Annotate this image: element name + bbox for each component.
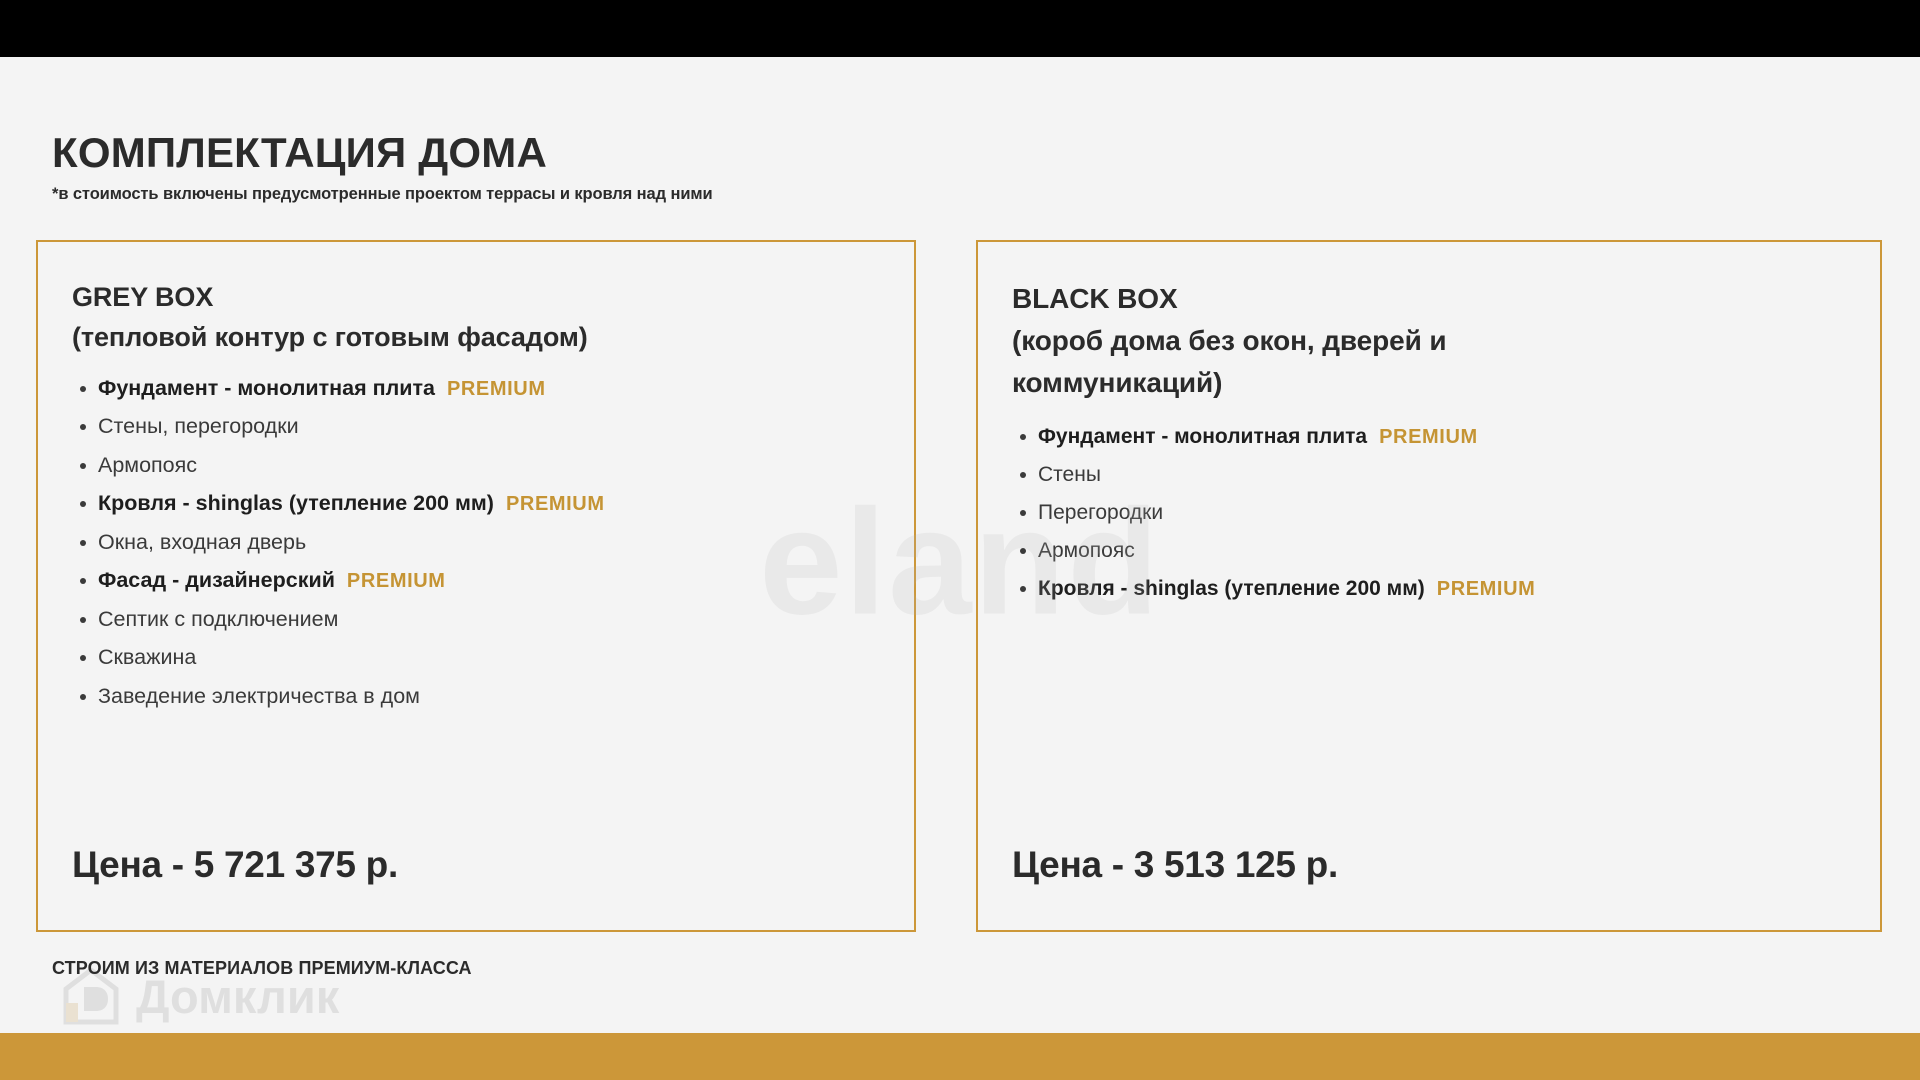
card-black-box-subtitle-line1: (короб дома без окон, дверей и xyxy=(1012,320,1846,362)
list-item: Окна, входная дверь xyxy=(72,532,880,554)
bottom-gold-bar xyxy=(0,1033,1920,1080)
card-grey-box-title: GREY BOX (тепловой контур с готовым фаса… xyxy=(72,278,880,358)
feature-text: Перегородки xyxy=(1038,501,1163,524)
footer-caption: СТРОИМ ИЗ МАТЕРИАЛОВ ПРЕМИУМ-КЛАССА xyxy=(52,958,472,979)
feature-text: Кровля - shinglas (утепление 200 мм) xyxy=(98,491,494,515)
list-item: Кровля - shinglas (утепление 200 мм)PREM… xyxy=(1012,578,1846,599)
page-title: КОМПЛЕКТАЦИЯ ДОМА xyxy=(52,131,1052,175)
card-black-box-subtitle-line2: коммуникаций) xyxy=(1012,362,1846,404)
package-cards-container: GREY BOX (тепловой контур с готовым фаса… xyxy=(36,240,1886,932)
card-black-box-name: BLACK BOX xyxy=(1012,283,1178,314)
list-item: Септик с подключением xyxy=(72,609,880,631)
premium-badge: PREMIUM xyxy=(1437,578,1536,600)
card-black-box-title: BLACK BOX (короб дома без окон, дверей и… xyxy=(1012,278,1846,404)
card-grey-box-name: GREY BOX xyxy=(72,282,213,312)
feature-text: Окна, входная дверь xyxy=(98,530,306,554)
feature-text: Стены xyxy=(1038,463,1101,486)
feature-text: Фасад - дизайнерский xyxy=(98,568,335,592)
feature-text: Фундамент - монолитная плита xyxy=(1038,425,1367,448)
list-item: Заведение электричества в дом xyxy=(72,686,880,708)
card-grey-box-feature-list: Фундамент - монолитная плитаPREMIUM Стен… xyxy=(72,378,880,725)
list-item: Стены xyxy=(1012,464,1846,485)
feature-text: Армопояс xyxy=(1038,539,1135,562)
card-black-box-feature-list: Фундамент - монолитная плитаPREMIUM Стен… xyxy=(1012,426,1846,616)
feature-text: Заведение электричества в дом xyxy=(98,684,420,708)
feature-text: Стены, перегородки xyxy=(98,414,299,438)
premium-badge: PREMIUM xyxy=(506,493,605,515)
list-item: Армопояс xyxy=(1012,540,1846,561)
feature-text: Кровля - shinglas (утепление 200 мм) xyxy=(1038,577,1425,600)
card-black-box-price: Цена - 3 513 125 р. xyxy=(1012,844,1846,886)
page-subtitle: *в стоимость включены предусмотренные пр… xyxy=(52,185,1052,204)
premium-badge: PREMIUM xyxy=(1379,426,1478,448)
feature-text: Армопояс xyxy=(98,453,197,477)
list-item: Скважина xyxy=(72,647,880,669)
card-black-box[interactable]: BLACK BOX (короб дома без окон, дверей и… xyxy=(976,240,1882,932)
card-grey-box-price: Цена - 5 721 375 р. xyxy=(72,844,880,886)
heading-block: КОМПЛЕКТАЦИЯ ДОМА *в стоимость включены … xyxy=(52,131,1052,204)
feature-text: Скважина xyxy=(98,645,196,669)
list-item: Армопояс xyxy=(72,455,880,477)
list-item: Фундамент - монолитная плитаPREMIUM xyxy=(1012,426,1846,447)
top-black-bar xyxy=(0,0,1920,57)
slide-root: eland КОМПЛЕКТАЦИЯ ДОМА *в стоимость вкл… xyxy=(0,0,1920,1080)
list-item: Перегородки xyxy=(1012,502,1846,523)
list-item: Стены, перегородки xyxy=(72,416,880,438)
feature-text: Фундамент - монолитная плита xyxy=(98,376,435,400)
list-item: Фундамент - монолитная плитаPREMIUM xyxy=(72,378,880,400)
card-grey-box-subtitle: (тепловой контур с готовым фасадом) xyxy=(72,318,880,358)
card-grey-box[interactable]: GREY BOX (тепловой контур с готовым фаса… xyxy=(36,240,916,932)
feature-text: Септик с подключением xyxy=(98,607,338,631)
list-item: Кровля - shinglas (утепление 200 мм)PREM… xyxy=(72,493,880,515)
premium-badge: PREMIUM xyxy=(447,378,546,400)
premium-badge: PREMIUM xyxy=(347,570,446,592)
list-item: Фасад - дизайнерскийPREMIUM xyxy=(72,570,880,592)
